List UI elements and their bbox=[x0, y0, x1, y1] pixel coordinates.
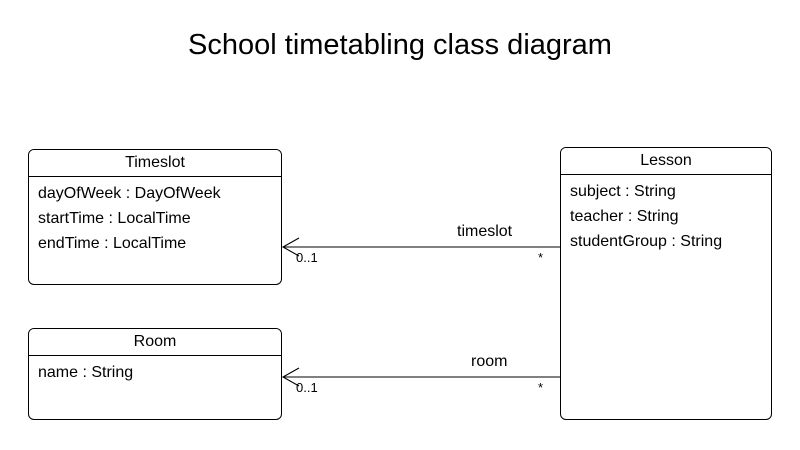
uml-attribute: startTime : LocalTime bbox=[38, 206, 281, 231]
uml-attribute: endTime : LocalTime bbox=[38, 231, 281, 256]
uml-class-name-room: Room bbox=[29, 329, 281, 356]
uml-class-room[interactable]: Room name : String bbox=[28, 328, 282, 420]
uml-class-timeslot[interactable]: Timeslot dayOfWeek : DayOfWeek startTime… bbox=[28, 149, 282, 285]
uml-attribute: studentGroup : String bbox=[570, 229, 771, 254]
uml-class-name-lesson: Lesson bbox=[561, 148, 771, 175]
uml-attributes-lesson: subject : String teacher : String studen… bbox=[561, 175, 771, 254]
uml-attribute: name : String bbox=[38, 360, 281, 385]
uml-class-name-timeslot: Timeslot bbox=[29, 150, 281, 177]
association-lesson-timeslot bbox=[283, 238, 560, 256]
uml-attribute: subject : String bbox=[570, 179, 771, 204]
class-diagram-canvas: School timetabling class diagram Timeslo… bbox=[0, 0, 800, 450]
association-multiplicity-room-target: 0..1 bbox=[296, 380, 318, 395]
association-multiplicity-timeslot-source: * bbox=[538, 250, 543, 265]
association-multiplicity-timeslot-target: 0..1 bbox=[296, 250, 318, 265]
uml-attribute: dayOfWeek : DayOfWeek bbox=[38, 181, 281, 206]
uml-attribute: teacher : String bbox=[570, 204, 771, 229]
association-lesson-room bbox=[283, 368, 560, 386]
uml-class-lesson[interactable]: Lesson subject : String teacher : String… bbox=[560, 147, 772, 420]
association-label-timeslot: timeslot bbox=[457, 223, 512, 241]
uml-attributes-timeslot: dayOfWeek : DayOfWeek startTime : LocalT… bbox=[29, 177, 281, 256]
association-label-room: room bbox=[471, 353, 507, 371]
uml-attributes-room: name : String bbox=[29, 356, 281, 385]
association-multiplicity-room-source: * bbox=[538, 380, 543, 395]
page-title: School timetabling class diagram bbox=[0, 28, 800, 62]
